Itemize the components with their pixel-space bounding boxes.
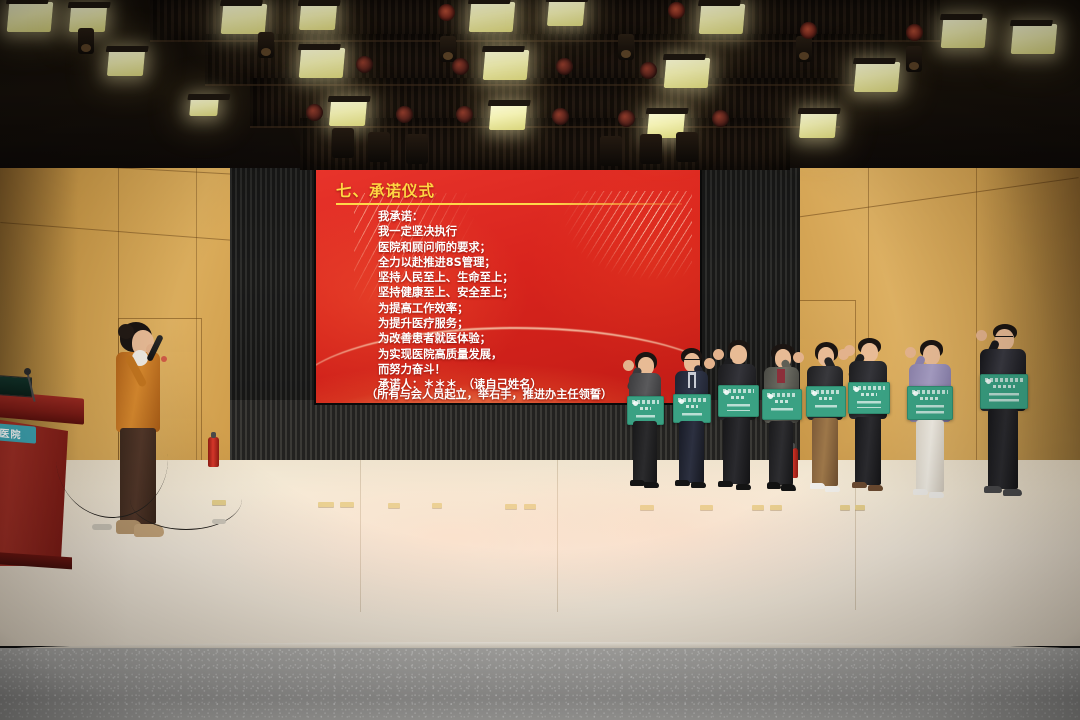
floor-marker — [505, 504, 517, 509]
stage-light — [329, 100, 367, 126]
floor-marker — [432, 503, 442, 508]
eyeglasses-icon — [995, 336, 1013, 339]
participant-shoe — [1003, 489, 1022, 496]
podium-microphone-head — [24, 368, 31, 375]
slide-line: 为提高工作效率； — [378, 301, 688, 316]
card-header-line — [853, 386, 885, 390]
participant-trousers — [988, 409, 1018, 489]
necktie — [690, 375, 694, 390]
fire-extinguisher — [208, 437, 219, 467]
stage-light — [7, 2, 54, 32]
dome-light — [668, 2, 685, 19]
card-body-lines — [916, 405, 944, 414]
eyeglasses-icon — [684, 359, 700, 362]
stage-light — [664, 58, 711, 88]
participant-shoe — [736, 484, 751, 490]
stage-light — [299, 4, 337, 30]
pledge-card[interactable] — [907, 386, 953, 420]
ceiling-lighting-rig — [0, 0, 1080, 168]
floor-marker — [524, 504, 536, 509]
card-body-lines — [815, 405, 837, 411]
dome-light — [452, 58, 469, 75]
stage-light — [854, 62, 901, 92]
participant-shoe — [675, 480, 690, 486]
floor-cable-connector — [212, 519, 226, 524]
slide-line: 医院和顾问师的要求； — [378, 240, 688, 255]
card-body-lines — [771, 408, 793, 414]
participant-8 — [975, 324, 1033, 510]
participant-shoe — [852, 482, 867, 488]
participant-shoe — [718, 481, 733, 487]
stage-light — [107, 50, 145, 76]
raised-fist — [623, 360, 634, 371]
stage-light — [489, 104, 527, 130]
floor-marker — [752, 505, 764, 510]
moving-head-light — [796, 36, 812, 62]
moving-head-light — [618, 34, 634, 60]
card-body-lines — [636, 415, 655, 419]
slide-line: 全力以赴推进8S管理； — [378, 255, 688, 270]
participant-trousers — [855, 417, 881, 485]
raised-fist — [976, 330, 987, 341]
moving-head-light — [600, 136, 622, 166]
auditorium-stage-photo: 七、承诺仪式 我承诺： 我一定坚决执行 医院和顾问师的要求； 全力以赴推进8S管… — [0, 0, 1080, 720]
participant-heel-shoe — [767, 482, 781, 489]
card-subheader-line — [640, 407, 651, 410]
card-header-line — [912, 390, 948, 394]
microphone-tip — [161, 356, 167, 362]
stage-light — [469, 2, 516, 32]
slide-line: 为提升医疗服务； — [378, 316, 688, 331]
participant-white-trousers — [916, 420, 944, 492]
floor-marker — [700, 505, 713, 510]
dome-light — [556, 58, 573, 75]
participant-shoe — [868, 485, 883, 491]
floor-marker — [855, 505, 865, 510]
dome-light — [456, 106, 473, 123]
participant-tan-trousers — [812, 418, 838, 486]
floor-marker — [840, 505, 850, 510]
podium-name-plate-text: 民医院 — [0, 424, 22, 442]
raised-fist — [844, 345, 855, 356]
raised-fist — [713, 349, 724, 360]
card-subheader-line — [920, 397, 940, 400]
participant-2 — [668, 348, 716, 494]
card-header-line — [767, 393, 797, 397]
participant-shoe — [913, 489, 928, 495]
card-subheader-line — [861, 393, 877, 396]
card-subheader-line — [731, 396, 746, 399]
stage-light — [189, 98, 219, 116]
slide-heading: 七、承诺仪式 — [336, 179, 435, 201]
floor-marker — [318, 502, 334, 507]
stage-light — [941, 18, 988, 48]
emcee-hair-bun — [118, 324, 134, 339]
podium-name-plate: 民医院 — [0, 421, 36, 443]
moving-head-light — [78, 28, 94, 54]
card-header-line — [723, 389, 754, 393]
moving-head-light — [676, 132, 698, 162]
dome-light — [438, 4, 455, 21]
dome-light — [618, 110, 635, 127]
participant-1 — [622, 352, 670, 492]
floor-marker — [640, 505, 654, 510]
wall-seam — [781, 177, 1078, 220]
stage-light — [547, 0, 585, 26]
slide-line: 为改善患者就医体验； — [378, 331, 688, 346]
slide-line: 坚持健康至上、安全至上； — [378, 285, 688, 300]
stage-light — [799, 112, 837, 138]
floor-marker — [770, 505, 782, 510]
card-header-line — [678, 398, 706, 402]
participant-trousers — [769, 421, 793, 485]
moving-head-light — [332, 128, 354, 158]
card-subheader-line — [775, 400, 789, 403]
card-header-line — [811, 390, 841, 394]
participant-head — [923, 345, 940, 365]
pledge-card[interactable] — [980, 374, 1028, 409]
raised-fist — [905, 347, 916, 358]
participant-shoe — [630, 480, 645, 486]
stage-light — [699, 4, 746, 34]
floor-marker — [340, 502, 354, 507]
participant-trousers — [633, 421, 657, 483]
floor-marker — [388, 503, 400, 508]
card-subheader-line — [993, 385, 1015, 388]
dome-light — [906, 24, 923, 41]
dome-light — [396, 106, 413, 123]
dome-light — [640, 62, 657, 79]
participant-heel-shoe — [781, 484, 796, 491]
stage-light — [483, 50, 530, 80]
pledge-card[interactable] — [806, 386, 846, 417]
card-header-line — [985, 378, 1023, 382]
participant-shoe — [825, 486, 840, 492]
stage-apron — [0, 648, 1080, 720]
card-subheader-line — [819, 397, 833, 400]
moving-head-light — [440, 36, 456, 62]
card-body-lines — [857, 401, 881, 408]
moving-head-light — [906, 46, 922, 72]
dome-light — [712, 110, 729, 127]
slide-heading-rule — [336, 203, 682, 205]
pledge-card[interactable] — [848, 382, 890, 414]
participant-4 — [757, 344, 807, 496]
slide-line: 坚持人民至上、生命至上； — [378, 270, 688, 285]
participant-shoe — [984, 486, 1002, 493]
dome-light — [306, 104, 323, 121]
participant-trousers — [679, 421, 704, 483]
dome-light — [356, 56, 373, 73]
slide-line: 我承诺： — [378, 209, 688, 224]
floor-microphone — [92, 524, 112, 530]
moving-head-light — [406, 134, 428, 164]
pledge-card[interactable] — [718, 385, 759, 417]
dome-light — [800, 22, 817, 39]
card-subheader-line — [686, 405, 698, 408]
participant-trousers — [723, 418, 750, 484]
truss-bar — [205, 84, 885, 86]
moving-head-light — [258, 32, 274, 58]
participant-7 — [903, 340, 959, 508]
slide-line: 我一定坚决执行 — [378, 224, 688, 239]
stage-light — [221, 4, 268, 34]
participant-shoe — [691, 482, 706, 488]
participant-shoe — [810, 483, 825, 489]
card-body-lines — [727, 404, 750, 411]
moving-head-light — [640, 134, 662, 164]
card-body-lines — [989, 393, 1019, 403]
participant-6 — [843, 338, 895, 498]
floor-seam — [360, 460, 361, 612]
wall-seam — [0, 222, 261, 243]
card-header-line — [632, 400, 659, 404]
inner-shirt — [777, 369, 785, 383]
floor-seam — [557, 460, 558, 612]
card-body-lines — [682, 413, 702, 417]
pledge-card[interactable] — [673, 394, 711, 423]
participant-shoe — [644, 482, 659, 488]
participant-shoe — [929, 492, 944, 498]
moving-head-light — [368, 132, 390, 162]
stage-light — [1011, 24, 1058, 54]
pledge-card[interactable] — [762, 389, 802, 420]
dome-light — [552, 108, 569, 125]
stage-light — [299, 48, 346, 78]
